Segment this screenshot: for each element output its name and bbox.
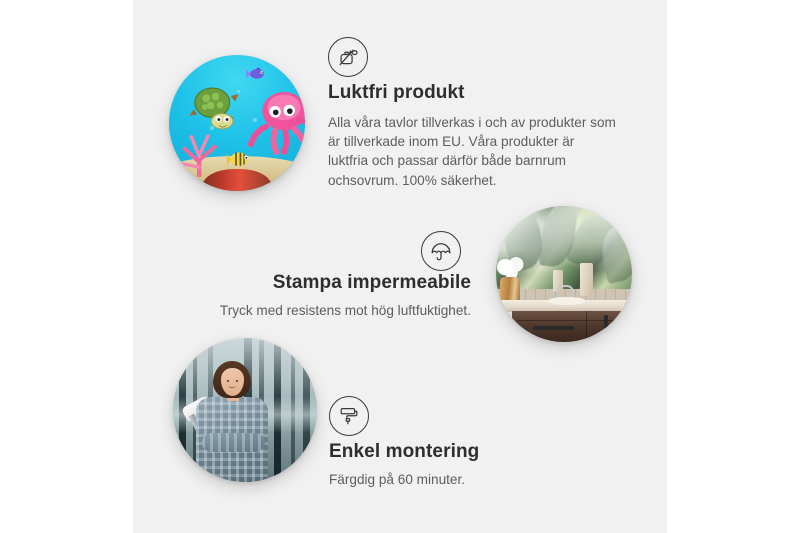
face (221, 368, 244, 395)
bathroom-tropical-wallpaper-photo (496, 206, 632, 342)
feature-body: Tryck med resistens mot hög luftfuktighe… (133, 301, 471, 320)
yellow-fish-icon (226, 145, 253, 172)
door-divider (586, 311, 587, 342)
feature-body: Färgdig på 60 minuter. (329, 470, 629, 489)
eye (227, 380, 229, 382)
drawer-divider (517, 320, 632, 321)
feature-title: Enkel montering (329, 441, 629, 464)
feature-title: Stampa impermeabile (133, 272, 471, 295)
feature-body: Alla våra tavlor tillverkas i och av pro… (328, 113, 618, 190)
umbrella-icon (421, 231, 461, 271)
content-panel: Luktfri produkt Alla våra tavlor tillver… (133, 0, 667, 533)
pink-coral-icon (172, 128, 226, 177)
woman-with-paint-roller-forest-photo (173, 338, 317, 482)
blue-fish-icon (245, 63, 268, 85)
tall-bottle (580, 263, 592, 296)
octopus-icon (247, 90, 305, 155)
feature-waterproof-text: Stampa impermeabile Tryck med resistens … (133, 272, 471, 320)
bathroom-scene-art (496, 206, 632, 342)
feature-banner: Luktfri produkt Alla våra tavlor tillver… (0, 0, 800, 533)
wooden-vanity-cabinet (512, 311, 632, 342)
crossed-arms (202, 433, 265, 452)
door-handle (604, 315, 608, 329)
eye (236, 380, 238, 382)
feature-title: Luktfri produkt (328, 82, 618, 105)
feature-odor-free-text: Luktfri produkt Alla våra tavlor tillver… (328, 82, 618, 190)
no-fragrance-icon (328, 37, 368, 77)
forest-scene-art (173, 338, 317, 482)
feature-easy-install-text: Enkel montering Färgdig på 60 minuter. (329, 441, 629, 489)
drawer-handle (533, 326, 574, 330)
underwater-kids-mural-photo (169, 55, 305, 191)
paint-roller-icon (329, 396, 369, 436)
underwater-scene-art (169, 55, 305, 191)
